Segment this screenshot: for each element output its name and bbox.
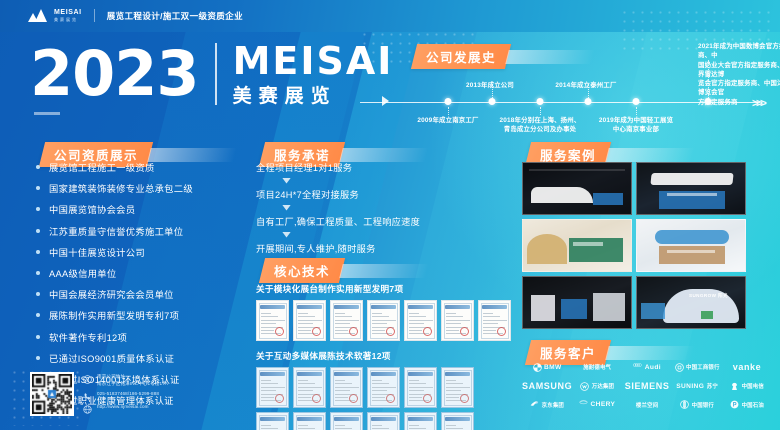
qualification-item: 软件著作专利12项 (36, 330, 193, 344)
certificate-thumbnail[interactable] (404, 367, 437, 408)
header-tagline: 展览工程设计/施工双一级资质企业 (107, 10, 243, 22)
timeline-event-label: 2009年成立南京工厂 (417, 116, 478, 125)
client-logo-chery: CHERY (579, 400, 615, 409)
certificate-thumbnail[interactable] (441, 412, 474, 430)
qualification-label: 中国会展经济研究会会员单位 (49, 287, 174, 301)
bullet-dot-icon (36, 292, 40, 296)
bullet-dot-icon (36, 250, 40, 254)
certificate-thumbnail[interactable] (441, 367, 474, 408)
timeline-event-label: 2013年成立公司 (466, 81, 514, 90)
header-logo-cn: 美赛展览 (54, 18, 82, 22)
contact-phone: 025-51837468/186-5299-888 (97, 391, 159, 398)
client-logo-loulan: 楼兰空间 (636, 401, 658, 409)
client-logo-suning: SUNING苏宁 (676, 382, 718, 390)
contact-address-label: 南京公司地址 (97, 374, 125, 379)
case-photo-sungrow-dome-booth[interactable]: SUNGROW 阳光 (636, 276, 746, 329)
promise-item: 开展期间,专人维护,随时服务 (256, 241, 420, 255)
qualification-item: 中国展览馆协会会员 (36, 202, 193, 216)
client-logo-name: vanke (733, 362, 762, 372)
timeline-event-label: 2018年分别在上海、扬州、 青岛成立分公司及办事处 (500, 116, 581, 135)
case-photo-grid: SUNGROW 阳光 (522, 162, 746, 329)
client-logo-audi: Audi (633, 363, 661, 372)
qualification-item: 已通过ISO9001质量体系认证 (36, 351, 193, 365)
chevron-down-icon (282, 232, 291, 238)
contact-block: 南京公司地址 南京江宁区铭泽INC中心1号楼17A 025-51837468/1… (30, 372, 168, 416)
qualification-label: 国家建筑装饰装修专业总承包二级 (49, 181, 193, 195)
tag-fade-bar (605, 346, 694, 360)
certificate-thumbnail[interactable] (256, 367, 289, 408)
bullet-dot-icon (36, 356, 40, 360)
client-logo-petrochina: 中国石油 (730, 400, 764, 409)
certificate-thumbnail[interactable] (367, 367, 400, 408)
certificate-thumbnail[interactable] (404, 412, 437, 430)
contact-address-value: 南京江宁区铭泽INC中心1号楼17A (97, 381, 168, 386)
timeline-event-label: 2014年成立泰州工厂 (555, 81, 616, 90)
tech-group1-title: 关于模块化展台制作实用新型发明7项 (256, 283, 511, 295)
client-logo-name-cn: 中国工商银行 (686, 363, 720, 371)
client-logo-wanda: 万达集团 (580, 382, 614, 391)
certificate-row (256, 412, 511, 430)
core-tech-block: 关于模块化展台制作实用新型发明7项 关于互动多媒体展陈技术软著12项 (256, 283, 511, 430)
certificate-thumbnail[interactable] (256, 412, 289, 430)
qualification-label: 展览馆工程施工一级资质 (49, 160, 155, 174)
client-logo-vanke: vanke (733, 362, 762, 372)
client-logo-name-cn: 中国电信 (742, 382, 764, 390)
qualification-item: 中国会展经济研究会会员单位 (36, 287, 193, 301)
client-logo-name-cn: 京东集团 (542, 401, 564, 409)
qualification-item: 展览馆工程施工一级资质 (36, 160, 193, 174)
hero-year: 2023 (30, 43, 199, 105)
client-logo-name-cn: 楼兰空间 (636, 401, 658, 409)
certificate-thumbnail[interactable] (330, 300, 363, 341)
client-logo-name-cn: 施耐德电气 (583, 363, 611, 371)
certificate-thumbnail[interactable] (404, 300, 437, 341)
contact-address: 南京公司地址 南京江宁区铭泽INC中心1号楼17A (97, 374, 168, 388)
qualification-label: 中国展览馆协会会员 (49, 202, 135, 216)
timeline-arrow-left-icon (382, 96, 389, 106)
tag-shape: 核心技术 (259, 258, 345, 283)
qualification-label: AAA级信用单位 (49, 266, 117, 280)
client-logo-grid: BMW施耐德电气Audi中国工商银行vankeSAMSUNG万达集团SIEMEN… (522, 362, 772, 409)
qualification-label: 展陈制作实用新型发明专利7项 (49, 308, 179, 322)
contact-website: http://www.njmeisai.com (97, 404, 149, 411)
client-logos: BMW施耐德电气Audi中国工商银行vankeSAMSUNG万达集团SIEMEN… (522, 362, 772, 409)
qualification-item: 江苏重质量守信誉优秀施工单位 (36, 224, 193, 238)
hero-block: 2023 MEISAI 美赛展览 (30, 42, 393, 106)
clients-tag-label: 服务客户 (540, 343, 596, 362)
bullet-dot-icon (36, 229, 40, 233)
client-logo-name: Audi (645, 364, 661, 371)
timeline-stem (636, 107, 637, 115)
timeline-event-label: 2019年成为中国轻工展览 中心南京事业部 (599, 116, 673, 135)
header-logo-en: MEISAI (54, 9, 82, 16)
chevron-down-icon (282, 205, 291, 211)
client-logo-icbc: 中国工商银行 (675, 363, 720, 372)
bullet-dot-icon (36, 335, 40, 339)
case-photo-retail-dome-booth[interactable] (636, 219, 746, 272)
wanda-icon (580, 382, 589, 391)
chevron-down-icon (282, 178, 291, 184)
client-logo-chinatelecom: 中国电信 (730, 382, 764, 391)
client-logo-name-cn: 中国石油 (742, 401, 764, 409)
client-logo-schneider: 施耐德电气 (583, 363, 611, 371)
bullet-dot-icon (36, 186, 40, 190)
mountain-logo-icon (28, 9, 46, 22)
client-logo-name-cn: 万达集团 (592, 382, 614, 390)
brand-header: MEISAI 美赛展览 展览工程设计/施工双一级资质企业 (28, 9, 243, 22)
certificate-thumbnail[interactable] (293, 300, 326, 341)
client-logo-name: SIEMENS (625, 381, 670, 391)
timeline-node[interactable] (633, 98, 640, 105)
qualification-label: 软件著作专利12项 (49, 330, 127, 344)
software-certificate-grid (256, 367, 511, 430)
contact-phone-row: 025-51837468/186-5299-888 (83, 391, 168, 401)
tag-fade-bar (605, 148, 694, 162)
promise-item: 自有工厂,确保工程质量、工程响应速度 (256, 214, 420, 228)
phone-icon (83, 392, 92, 401)
jd-icon (530, 400, 539, 409)
client-logo-bmw: BMW (533, 363, 562, 372)
certificate-thumbnail[interactable] (441, 300, 474, 341)
certificate-thumbnail[interactable] (478, 300, 511, 341)
hero-divider (215, 43, 217, 105)
petrochina-icon (730, 400, 739, 409)
contact-address-row: 南京公司地址 南京江宁区铭泽INC中心1号楼17A (83, 374, 168, 388)
patent-certificate-row (256, 300, 511, 341)
timeline-stem (540, 107, 541, 115)
poster-root: MEISAI 美赛展览 展览工程设计/施工双一级资质企业 2023 MEISAI… (0, 0, 780, 430)
promise-item: 项目24H*7全程对接服务 (256, 187, 420, 201)
company-timeline: >>> 2009年成立南京工厂2013年成立公司2018年分别在上海、扬州、 青… (352, 40, 772, 136)
timeline-node[interactable] (537, 98, 544, 105)
certificate-thumbnail[interactable] (367, 300, 400, 341)
certificate-thumbnail[interactable] (293, 367, 326, 408)
certificate-thumbnail[interactable] (330, 367, 363, 408)
case-photo-aviation-booth[interactable] (522, 162, 632, 215)
timeline-event-label: 2021年成为中国数博会官方指定服务商、中 国奶业大会官方指定服务商、中国世界雷… (698, 42, 780, 107)
qualification-item: 展陈制作实用新型发明专利7项 (36, 308, 193, 322)
qualification-item: AAA级信用单位 (36, 266, 193, 280)
promise-list: 全程项目经理1对1服务项目24H*7全程对接服务自有工厂,确保工程质量、工程响应… (256, 160, 420, 255)
case-photo-wood-pavilion-booth[interactable] (522, 219, 632, 272)
chinatelecom-icon (730, 382, 739, 391)
hero-underline (34, 112, 60, 115)
bullet-dot-icon (36, 313, 40, 317)
client-logo-name-cn: 中国银行 (692, 401, 714, 409)
tag-fade-bar (339, 264, 428, 278)
tech-group2-title: 关于互动多媒体展陈技术软著12项 (256, 350, 511, 362)
client-logo-name-cn: 苏宁 (707, 382, 718, 390)
bullet-dot-icon (36, 207, 40, 211)
qualification-label: 江苏重质量守信誉优秀施工单位 (49, 224, 183, 238)
service-cases: SUNGROW 阳光 (522, 162, 746, 329)
certificate-thumbnail[interactable] (367, 412, 400, 430)
bullet-dot-icon (36, 165, 40, 169)
client-logo-boc: 中国银行 (680, 400, 714, 409)
header-logo-text: MEISAI 美赛展览 (54, 9, 82, 22)
promise-item: 全程项目经理1对1服务 (256, 160, 420, 174)
client-logo-name: CHERY (591, 401, 616, 408)
certificate-thumbnail[interactable] (330, 412, 363, 430)
globe-icon (83, 405, 92, 414)
client-logo-jd: 京东集团 (530, 400, 564, 409)
qualification-item: 中国十佳展览设计公司 (36, 245, 193, 259)
client-logo-name: SAMSUNG (522, 381, 572, 391)
bullet-dot-icon (36, 271, 40, 275)
qualification-item: 国家建筑装饰装修专业总承包二级 (36, 181, 193, 195)
chery-icon (579, 400, 588, 409)
header-divider (94, 9, 95, 22)
client-logo-name: BMW (544, 364, 562, 371)
qualification-label: 已通过ISO9001质量体系认证 (49, 351, 174, 365)
qualification-label: 中国十佳展览设计公司 (49, 245, 145, 259)
certificate-row (256, 367, 511, 408)
certificate-thumbnail[interactable] (256, 300, 289, 341)
icbc-icon (675, 363, 684, 372)
tech-tag-label: 核心技术 (274, 261, 330, 280)
qr-code[interactable] (30, 372, 74, 416)
contact-rows: 南京公司地址 南京江宁区铭泽INC中心1号楼17A 025-51837468/1… (83, 374, 168, 414)
client-logo-siemens: SIEMENS (625, 381, 670, 391)
timeline-node[interactable] (445, 98, 452, 105)
certificate-thumbnail[interactable] (293, 412, 326, 430)
location-pin-icon (83, 375, 92, 384)
bmw-icon (533, 363, 542, 372)
boc-icon (680, 400, 689, 409)
client-logo-samsung: SAMSUNG (522, 381, 572, 391)
timeline-stem (448, 107, 449, 115)
case-photo-label: SUNGROW 阳光 (689, 293, 728, 299)
audi-icon (633, 363, 642, 372)
client-logo-name: SUNING (676, 383, 704, 390)
case-photo-tech-booth[interactable] (636, 162, 746, 215)
tech-section-tag: 核心技术 (262, 258, 427, 283)
case-photo-dark-exhibit-booth[interactable] (522, 276, 632, 329)
contact-website-row[interactable]: http://www.njmeisai.com (83, 404, 168, 414)
